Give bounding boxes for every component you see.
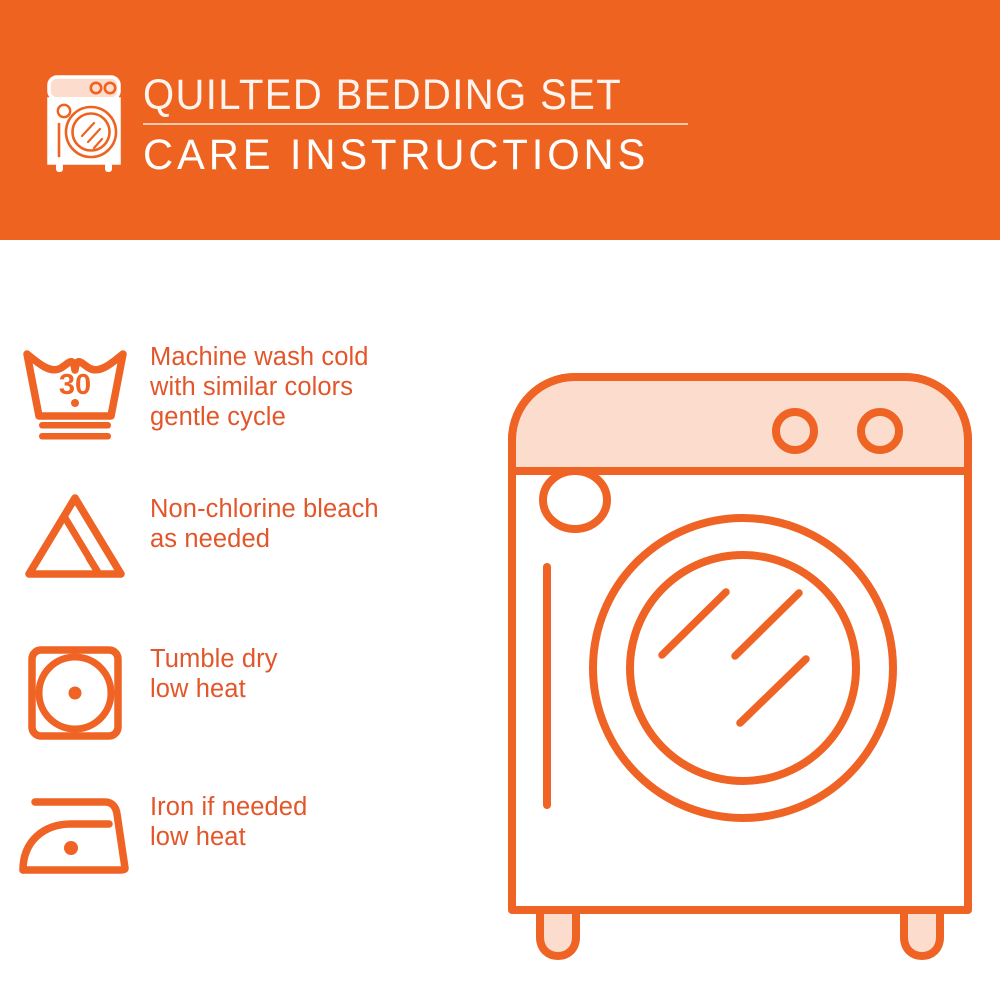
care-row: 30 Machine wash cold with similar colors…	[0, 338, 470, 444]
care-label-line: Iron if needed	[150, 792, 307, 822]
washing-machine-icon	[44, 72, 128, 178]
iron-low-heat-icon	[0, 788, 150, 882]
page-title: QUILTED BEDDING SET	[143, 72, 664, 118]
title-divider	[143, 123, 688, 125]
care-label: Tumble dry low heat	[150, 640, 278, 704]
care-label: Non-chlorine bleach as needed	[150, 490, 379, 554]
care-label-line: low heat	[150, 674, 278, 704]
care-label-line: Tumble dry	[150, 644, 278, 674]
care-instruction-list: 30 Machine wash cold with similar colors…	[0, 240, 470, 1000]
page-subtitle: CARE INSTRUCTIONS	[143, 129, 686, 181]
care-label: Machine wash cold with similar colors ge…	[150, 338, 369, 432]
leg-left	[540, 910, 576, 956]
care-row: Iron if needed low heat	[0, 788, 470, 882]
non-chlorine-bleach-triangle-icon	[0, 490, 150, 582]
care-label-line: gentle cycle	[150, 402, 369, 432]
care-instructions-page: QUILTED BEDDING SET CARE INSTRUCTIONS 30…	[0, 0, 1000, 1000]
care-label-line: with similar colors	[150, 372, 369, 402]
care-label-line: Non-chlorine bleach	[150, 494, 379, 524]
care-label-line: low heat	[150, 822, 307, 852]
care-row: Tumble dry low heat	[0, 640, 470, 742]
tumble-dry-low-heat-icon	[0, 640, 150, 742]
care-row: Non-chlorine bleach as needed	[0, 490, 470, 582]
header-text-block: QUILTED BEDDING SET CARE INSTRUCTIONS	[143, 72, 703, 181]
header-band: QUILTED BEDDING SET CARE INSTRUCTIONS	[0, 0, 1000, 240]
svg-text:30: 30	[59, 369, 91, 401]
care-label-line: Machine wash cold	[150, 342, 369, 372]
care-label: Iron if needed low heat	[150, 788, 307, 852]
wash-tub-30-gentle-icon: 30	[0, 338, 150, 444]
leg-right	[904, 910, 940, 956]
care-label-line: as needed	[150, 524, 379, 554]
washing-machine-illustration	[490, 325, 990, 965]
